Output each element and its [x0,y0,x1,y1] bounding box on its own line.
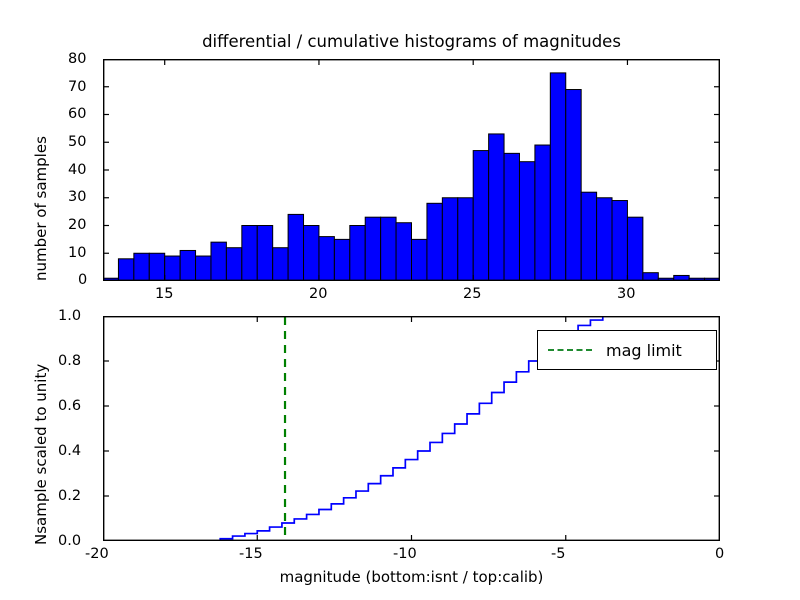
legend-item-label: mag limit [606,341,682,360]
bottom-ytick-0.2: 0.2 [58,488,81,504]
bottom-panel-ylabel: Nsample scaled to unity [32,364,50,545]
bottom-ytick-1.0: 1.0 [58,308,81,324]
histogram-bar [381,217,396,281]
histogram-bar [165,256,180,281]
bottom-ytick-0.4: 0.4 [58,443,81,459]
histogram-bar [458,198,473,281]
bottom-ytick-0.8: 0.8 [58,353,81,369]
histogram-bar [442,198,457,281]
histogram-bar [427,203,442,281]
top-xtick-30: 30 [617,286,635,302]
histogram-bar [180,250,195,281]
histogram-bar [304,226,319,282]
top-ytick-50: 50 [68,134,86,150]
page-title: differential / cumulative histograms of … [103,32,720,51]
histogram-bar [334,239,349,281]
mag-limit-line-icon [548,349,592,351]
histogram-bar [612,201,627,281]
top-ytick-80: 80 [68,51,86,67]
top-ytick-70: 70 [68,79,86,95]
differential-histogram-svg [103,59,720,281]
histogram-bar [627,217,642,281]
histogram-bar [550,73,565,281]
histogram-bars [103,73,720,281]
histogram-bar [535,145,550,281]
top-ytick-10: 10 [68,245,86,261]
bottom-ytick-0.0: 0.0 [58,533,81,549]
histogram-bar [566,90,581,281]
histogram-bar [581,192,596,281]
top-panel-axes [103,59,720,281]
matplotlib-figure: differential / cumulative histograms of … [0,0,800,600]
histogram-bar [211,242,226,281]
histogram-bar [597,198,612,281]
top-xtick-20: 20 [309,286,327,302]
histogram-bar [412,239,427,281]
histogram-bar [257,226,272,282]
bottom-xtick--20: -20 [85,546,109,562]
histogram-bar [319,237,334,281]
histogram-bar [288,214,303,281]
histogram-bar [196,256,211,281]
histogram-bar [118,259,133,281]
histogram-bar [350,226,365,282]
histogram-bar [519,162,534,281]
histogram-bar [504,153,519,281]
top-ytick-20: 20 [68,217,86,233]
bottom-xtick-0: 0 [715,546,724,562]
histogram-bar [242,226,257,282]
histogram-bar [396,223,411,281]
bottom-ytick-0.6: 0.6 [58,398,81,414]
histogram-bar [226,248,241,281]
histogram-bar [489,134,504,281]
top-ytick-40: 40 [68,162,86,178]
histogram-bar [365,217,380,281]
bottom-panel-xlabel: magnitude (bottom:isnt / top:calib) [103,568,720,586]
bottom-xtick--10: -10 [393,546,417,562]
top-ytick-30: 30 [68,189,86,205]
top-xtick-15: 15 [155,286,173,302]
histogram-bar [149,253,164,281]
legend[interactable]: mag limit [537,330,717,370]
histogram-bar [273,248,288,281]
top-ytick-0: 0 [78,272,87,288]
bottom-xtick--5: -5 [551,546,565,562]
top-xtick-25: 25 [463,286,481,302]
histogram-bar [134,253,149,281]
bottom-xtick--15: -15 [239,546,263,562]
histogram-bar [473,151,488,281]
top-panel-ylabel: number of samples [32,136,50,281]
top-ytick-60: 60 [68,106,86,122]
